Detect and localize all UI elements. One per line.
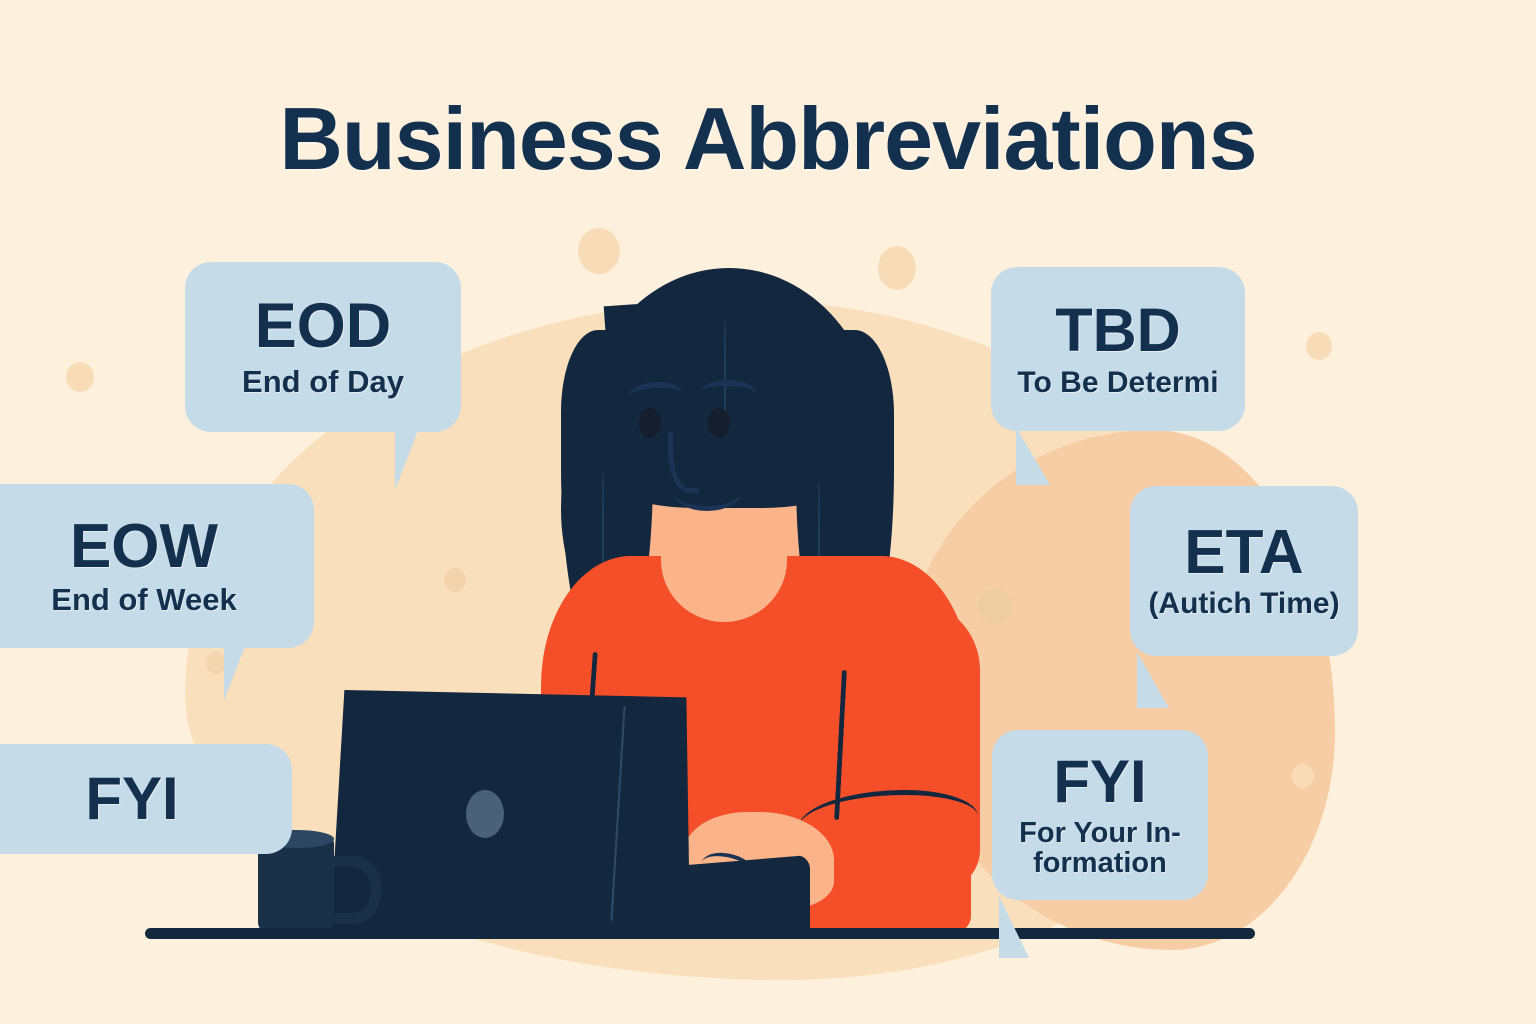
decor-dot-4 (66, 362, 94, 392)
bubble-eta[interactable]: ETA (Autich Time) (1130, 486, 1358, 656)
bubble-tail-fyi-right (999, 896, 1037, 958)
bubble-eod[interactable]: EOD End of Day (185, 262, 461, 432)
bubble-eow[interactable]: EOW End of Week (0, 484, 314, 648)
bubble-fyi-right-full2: formation (1033, 848, 1167, 878)
bubble-tail-tbd (1016, 427, 1060, 485)
bubble-fyi-right-full: For Your In- (1019, 818, 1181, 848)
bubble-tbd-full: To Be Determi (1017, 367, 1218, 399)
decor-dot-8 (206, 652, 226, 674)
mug-handle (326, 856, 382, 924)
poster-canvas: Business Abbreviations (0, 0, 1536, 1024)
decor-dot-1 (578, 228, 620, 274)
mouth-smile (672, 470, 742, 511)
desk-surface-line (145, 928, 1255, 939)
eye-right (708, 408, 730, 438)
bubble-eod-abbr: EOD (255, 295, 392, 358)
decor-dot-5 (444, 568, 466, 592)
bubble-eta-abbr: ETA (1184, 522, 1303, 584)
bubble-tail-eow (224, 644, 286, 700)
bubble-fyi-left-abbr: FYI (85, 769, 178, 829)
bubble-eod-full: End of Day (242, 366, 404, 399)
eye-left (639, 408, 661, 438)
bubble-tail-eta (1137, 652, 1177, 708)
decor-dot-7 (1292, 764, 1314, 788)
bubble-eow-full: End of Week (51, 584, 236, 617)
bubble-eta-full: (Autich Time) (1148, 588, 1339, 620)
page-title: Business Abbreviations (0, 88, 1536, 190)
bubble-tbd-abbr: TBD (1055, 300, 1180, 361)
decor-dot-6 (978, 588, 1012, 624)
bubble-fyi-left[interactable]: FYI (0, 744, 292, 854)
decor-dot-3 (1306, 332, 1332, 360)
bubble-tbd[interactable]: TBD To Be Determi (991, 267, 1245, 431)
decor-dot-2 (878, 246, 916, 290)
laptop-logo-icon (466, 790, 504, 838)
bubble-fyi-right-abbr: FYI (1053, 752, 1146, 812)
bubble-eow-abbr: EOW (70, 516, 218, 578)
bubble-fyi-right[interactable]: FYI For Your In- formation (992, 730, 1208, 900)
bubble-tail-eod (395, 428, 461, 490)
